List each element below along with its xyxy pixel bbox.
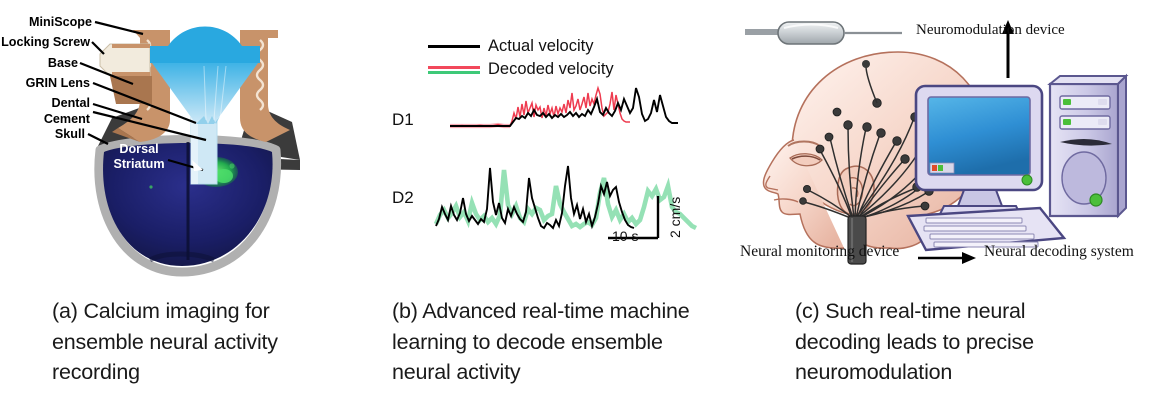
label-locking-screw: Locking Screw	[0, 35, 90, 49]
label-neural-decoding-system: Neural decoding system	[984, 243, 1134, 261]
label-grin-lens: GRIN Lens	[0, 76, 90, 90]
panel-c-neuromodulation: Neuromodulation device Neural monitoring…	[720, 0, 1150, 285]
label-miniscope: MiniScope	[0, 15, 92, 29]
rightward-arrow-icon	[918, 252, 976, 264]
label-base: Base	[0, 56, 78, 70]
velocity-traces-plot	[380, 0, 720, 285]
label-cement: Cement	[0, 112, 90, 126]
panel-a-calcium-imaging: MiniScope Locking Screw Base GRIN Lens D…	[0, 0, 380, 285]
label-dorsal: Dorsal	[108, 142, 170, 156]
label-skull: Skull	[0, 127, 85, 141]
caption-b: (b) Advanced real-time machine learning …	[392, 296, 692, 388]
caption-a: (a) Calcium imaging for ensemble neural …	[52, 296, 352, 388]
scalebar-velocity-label: 2 cm/s	[667, 197, 683, 238]
label-neural-monitoring-device: Neural monitoring device	[740, 243, 899, 261]
computer-illustration	[908, 76, 1126, 250]
scalebar-time-label: 10 s	[612, 228, 638, 244]
figure-root: MiniScope Locking Screw Base GRIN Lens D…	[0, 0, 1150, 412]
neuromodulation-device-icon	[745, 22, 902, 44]
trace-d1-decoded-line	[450, 88, 630, 126]
label-neuromodulation-device: Neuromodulation device	[916, 22, 1065, 39]
caption-c: (c) Such real-time neural decoding leads…	[795, 296, 1095, 388]
panel-b-velocity-decoding: Actual velocity Decoded velocity D1 D2	[380, 0, 720, 285]
label-striatum: Striatum	[108, 157, 170, 171]
label-dental: Dental	[0, 96, 90, 110]
